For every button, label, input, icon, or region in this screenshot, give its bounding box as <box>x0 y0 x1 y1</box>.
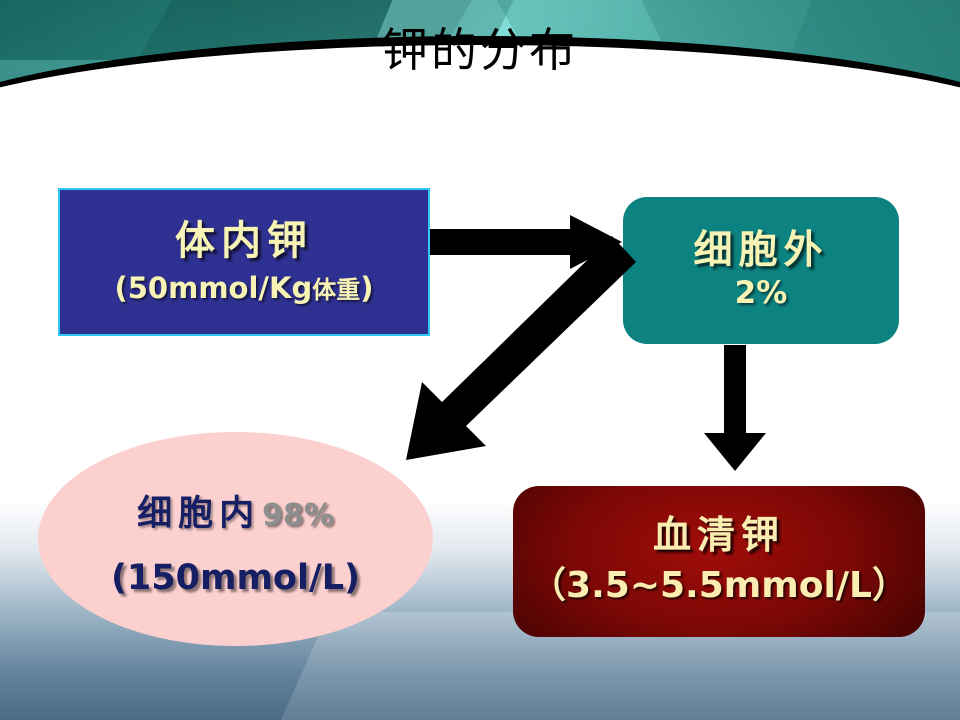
node-intracellular-percent: 98% <box>262 498 334 533</box>
node-total-potassium-title: 体内钾 <box>175 220 313 262</box>
node-extracellular-value: 2% <box>735 275 788 311</box>
total-potassium-sub-cn: 体重 <box>312 275 360 304</box>
node-total-potassium-subtitle: (50mmol/Kg体重) <box>115 270 374 305</box>
node-total-potassium: 体内钾 (50mmol/Kg体重) <box>58 188 430 336</box>
node-intracellular-headline: 细胞内 98% <box>137 485 334 536</box>
node-intracellular-value: (150mmol/L) <box>111 558 360 598</box>
node-intracellular: 细胞内 98% (150mmol/L) <box>38 432 433 646</box>
arrow-diagonal-down-left-icon <box>398 228 638 468</box>
node-serum-potassium: 血清钾 （3.5~5.5mmol/L） <box>513 486 925 637</box>
node-extracellular-title: 细胞外 <box>693 230 828 271</box>
page-title: 钾的分布 <box>0 14 960 80</box>
node-extracellular: 细胞外 2% <box>623 197 899 344</box>
slide-canvas: 钾的分布 体内钾 (50mmol/Kg体重) 细胞外 2% 细胞内 98% (1… <box>0 0 960 720</box>
node-serum-potassium-title: 血清钾 <box>653 515 785 555</box>
node-serum-potassium-range: （3.5~5.5mmol/L） <box>530 556 908 608</box>
arrow-down-icon <box>700 345 770 475</box>
total-potassium-sub-suffix: ) <box>360 271 373 305</box>
total-potassium-sub-prefix: (50mmol/Kg <box>115 271 313 305</box>
node-intracellular-title: 细胞内 <box>137 485 260 536</box>
